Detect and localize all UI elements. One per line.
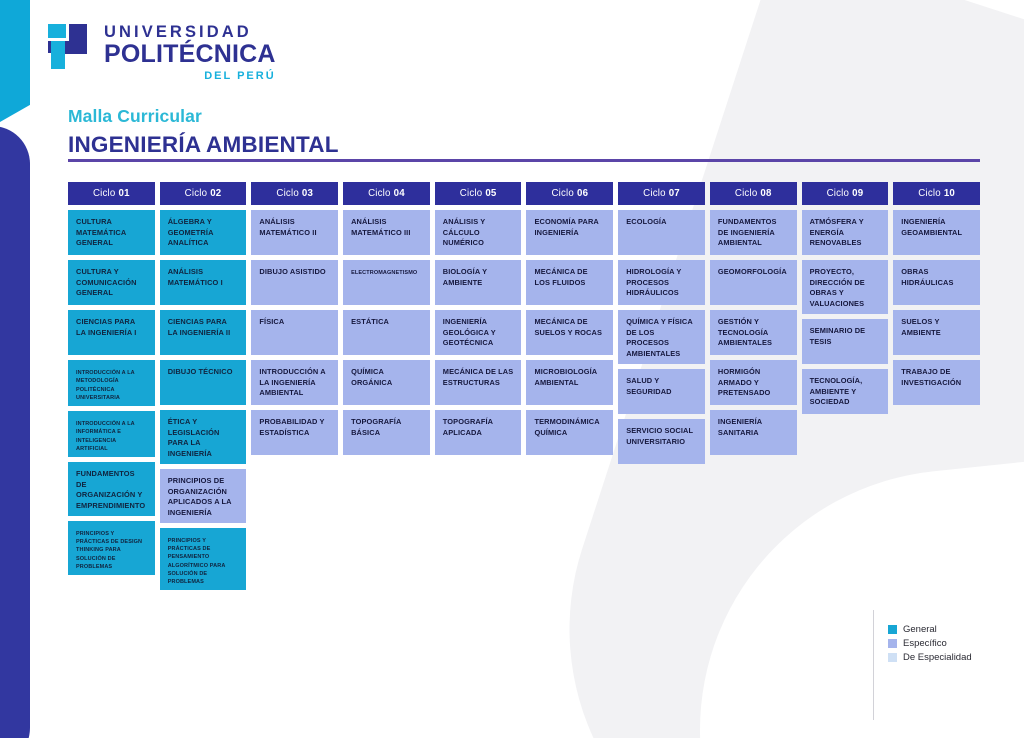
cycle-header-label: Ciclo — [735, 188, 758, 199]
course-card[interactable]: ECOLOGÍA — [618, 210, 705, 255]
legend: GeneralEspecíficoDe Especialidad — [888, 624, 972, 663]
legend-label: De Especialidad — [903, 652, 972, 663]
cycle-header-label: Ciclo — [368, 188, 391, 199]
course-card[interactable]: FÍSICA — [251, 310, 338, 355]
legend-swatch-icon — [888, 653, 897, 662]
logo-mark-icon — [48, 22, 94, 70]
cycle-column-01: Ciclo01CULTURA MATEMÁTICA GENERALCULTURA… — [68, 182, 155, 590]
cycle-column-09: Ciclo09ATMÓSFERA Y ENERGÍA RENOVABLESPRO… — [802, 182, 889, 590]
course-card[interactable]: INGENIERÍA SANITARIA — [710, 410, 797, 455]
course-card[interactable]: DIBUJO ASISTIDO — [251, 260, 338, 305]
course-card[interactable]: CIENCIAS PARA LA INGENIERÍA I — [68, 310, 155, 355]
legend-divider — [873, 610, 874, 720]
legend-label: Específico — [903, 638, 947, 649]
course-card[interactable]: CIENCIAS PARA LA INGENIERÍA II — [160, 310, 247, 355]
legend-label: General — [903, 624, 937, 635]
cycle-header-09[interactable]: Ciclo09 — [802, 182, 889, 205]
course-card[interactable]: INTRODUCCIÓN A LA INGENIERÍA AMBIENTAL — [251, 360, 338, 405]
course-card[interactable]: PROBABILIDAD Y ESTADÍSTICA — [251, 410, 338, 455]
cycle-header-number: 02 — [210, 188, 221, 199]
course-card[interactable]: ECONOMÍA PARA INGENIERÍA — [526, 210, 613, 255]
logo-wordmark: UNIVERSIDAD POLITÉCNICA DEL PERÚ — [104, 22, 276, 82]
cycle-column-07: Ciclo07ECOLOGÍAHIDROLOGÍA Y PROCESOS HID… — [618, 182, 705, 590]
course-card[interactable]: ANÁLISIS Y CÁLCULO NUMÉRICO — [435, 210, 522, 255]
course-card[interactable]: INGENIERÍA GEOLÓGICA Y GEOTÉCNICA — [435, 310, 522, 355]
course-card[interactable]: SALUD Y SEGURIDAD — [618, 369, 705, 414]
course-card[interactable]: ÁLGEBRA Y GEOMETRÍA ANALÍTICA — [160, 210, 247, 255]
course-card[interactable]: MECÁNICA DE SUELOS Y ROCAS — [526, 310, 613, 355]
course-card[interactable]: TOPOGRAFÍA BÁSICA — [343, 410, 430, 455]
course-card[interactable]: QUÍMICA Y FÍSICA DE LOS PROCESOS AMBIENT… — [618, 310, 705, 364]
course-card[interactable]: FUNDAMENTOS DE ORGANIZACIÓN Y EMPRENDIMI… — [68, 462, 155, 516]
cycle-header-10[interactable]: Ciclo10 — [893, 182, 980, 205]
course-card[interactable]: TOPOGRAFÍA APLICADA — [435, 410, 522, 455]
cycle-header-number: 03 — [302, 188, 313, 199]
course-card[interactable]: MICROBIOLOGÍA AMBIENTAL — [526, 360, 613, 405]
cycle-column-03: Ciclo03ANÁLISIS MATEMÁTICO IIDIBUJO ASIS… — [251, 182, 338, 590]
course-card[interactable]: ANÁLISIS MATEMÁTICO I — [160, 260, 247, 305]
course-card[interactable]: MECÁNICA DE LAS ESTRUCTURAS — [435, 360, 522, 405]
course-card[interactable]: ANÁLISIS MATEMÁTICO II — [251, 210, 338, 255]
cycle-header-label: Ciclo — [551, 188, 574, 199]
course-card[interactable]: DIBUJO TÉCNICO — [160, 360, 247, 405]
course-card[interactable]: OBRAS HIDRÁULICAS — [893, 260, 980, 305]
cycle-header-08[interactable]: Ciclo08 — [710, 182, 797, 205]
cycle-column-10: Ciclo10INGENIERÍA GEOAMBIENTALOBRAS HIDR… — [893, 182, 980, 590]
cycle-header-label: Ciclo — [185, 188, 208, 199]
cycle-header-number: 05 — [485, 188, 496, 199]
course-card[interactable]: FUNDAMENTOS DE INGENIERÍA AMBIENTAL — [710, 210, 797, 255]
cycle-header-number: 07 — [669, 188, 680, 199]
cycle-header-07[interactable]: Ciclo07 — [618, 182, 705, 205]
cycle-header-03[interactable]: Ciclo03 — [251, 182, 338, 205]
cycle-header-02[interactable]: Ciclo02 — [160, 182, 247, 205]
cycle-header-05[interactable]: Ciclo05 — [435, 182, 522, 205]
left-edge-blue-accent-inner — [0, 126, 30, 738]
legend-swatch-icon — [888, 639, 897, 648]
course-card[interactable]: ÉTICA Y LEGISLACIÓN PARA LA INGENIERÍA — [160, 410, 247, 464]
cycle-header-04[interactable]: Ciclo04 — [343, 182, 430, 205]
cycle-column-06: Ciclo06ECONOMÍA PARA INGENIERÍAMECÁNICA … — [526, 182, 613, 590]
course-card[interactable]: SUELOS Y AMBIENTE — [893, 310, 980, 355]
course-card[interactable]: ELECTROMAGNETISMO — [343, 260, 430, 305]
cycle-header-label: Ciclo — [643, 188, 666, 199]
legend-item: De Especialidad — [888, 652, 972, 663]
course-card[interactable]: QUÍMICA ORGÁNICA — [343, 360, 430, 405]
cycle-header-number: 04 — [394, 188, 405, 199]
course-card[interactable]: SERVICIO SOCIAL UNIVERSITARIO — [618, 419, 705, 464]
course-card[interactable]: ESTÁTICA — [343, 310, 430, 355]
course-card[interactable]: INTRODUCCIÓN A LA METODOLOGÍA POLITÉCNIC… — [68, 360, 155, 406]
cycle-header-number: 01 — [119, 188, 130, 199]
course-card[interactable]: MECÁNICA DE LOS FLUIDOS — [526, 260, 613, 305]
curriculum-grid: Ciclo01CULTURA MATEMÁTICA GENERALCULTURA… — [68, 182, 980, 590]
cycle-header-label: Ciclo — [93, 188, 116, 199]
course-card[interactable]: PROYECTO, DIRECCIÓN DE OBRAS Y VALUACION… — [802, 260, 889, 314]
left-edge-cyan-accent — [0, 0, 30, 122]
course-card[interactable]: PRINCIPIOS Y PRÁCTICAS DE PENSAMIENTO AL… — [160, 528, 247, 591]
course-card[interactable]: PRINCIPIOS DE ORGANIZACIÓN APLICADOS A L… — [160, 469, 247, 523]
legend-item: Específico — [888, 638, 972, 649]
course-card[interactable]: SEMINARIO DE TESIS — [802, 319, 889, 364]
brand-header: UNIVERSIDAD POLITÉCNICA DEL PERÚ — [48, 22, 276, 82]
course-card[interactable]: CULTURA Y COMUNICACIÓN GENERAL — [68, 260, 155, 305]
cycle-header-label: Ciclo — [827, 188, 850, 199]
curriculum-page: UNIVERSIDAD POLITÉCNICA DEL PERÚ Malla C… — [0, 0, 1024, 738]
cycle-column-02: Ciclo02ÁLGEBRA Y GEOMETRÍA ANALÍTICAANÁL… — [160, 182, 247, 590]
course-card[interactable]: BIOLOGÍA Y AMBIENTE — [435, 260, 522, 305]
cycle-column-04: Ciclo04ANÁLISIS MATEMÁTICO IIIELECTROMAG… — [343, 182, 430, 590]
course-card[interactable]: ATMÓSFERA Y ENERGÍA RENOVABLES — [802, 210, 889, 255]
course-card[interactable]: INGENIERÍA GEOAMBIENTAL — [893, 210, 980, 255]
course-card[interactable]: CULTURA MATEMÁTICA GENERAL — [68, 210, 155, 255]
logo-line-universidad: UNIVERSIDAD — [104, 24, 276, 41]
page-title-block: Malla Curricular INGENIERÍA AMBIENTAL — [68, 106, 339, 158]
page-title: INGENIERÍA AMBIENTAL — [68, 132, 339, 158]
cycle-header-number: 06 — [577, 188, 588, 199]
logo-line-politecnica: POLITÉCNICA — [104, 42, 276, 67]
course-card[interactable]: TECNOLOGÍA, AMBIENTE Y SOCIEDAD — [802, 369, 889, 414]
cycle-header-number: 09 — [852, 188, 863, 199]
course-card[interactable]: HORMIGÓN ARMADO Y PRETENSADO — [710, 360, 797, 405]
cycle-column-05: Ciclo05ANÁLISIS Y CÁLCULO NUMÉRICOBIOLOG… — [435, 182, 522, 590]
course-card[interactable]: INTRODUCCIÓN A LA INFORMÁTICA E INTELIGE… — [68, 411, 155, 457]
course-card[interactable]: HIDROLOGÍA Y PROCESOS HIDRÁULICOS — [618, 260, 705, 305]
cycle-header-number: 08 — [760, 188, 771, 199]
title-divider — [68, 159, 980, 162]
course-card[interactable]: GEOMORFOLOGÍA — [710, 260, 797, 305]
cycle-header-label: Ciclo — [918, 188, 941, 199]
cycle-header-06[interactable]: Ciclo06 — [526, 182, 613, 205]
legend-swatch-icon — [888, 625, 897, 634]
legend-item: General — [888, 624, 972, 635]
course-card[interactable]: ANÁLISIS MATEMÁTICO III — [343, 210, 430, 255]
cycle-header-01[interactable]: Ciclo01 — [68, 182, 155, 205]
course-card[interactable]: TERMODINÁMICA QUÍMICA — [526, 410, 613, 455]
cycle-header-number: 10 — [944, 188, 955, 199]
page-subtitle: Malla Curricular — [68, 106, 339, 127]
logo-line-del-peru: DEL PERÚ — [104, 70, 276, 82]
university-logo: UNIVERSIDAD POLITÉCNICA DEL PERÚ — [48, 22, 276, 82]
cycle-header-label: Ciclo — [276, 188, 299, 199]
cycle-column-08: Ciclo08FUNDAMENTOS DE INGENIERÍA AMBIENT… — [710, 182, 797, 590]
course-card[interactable]: GESTIÓN Y TECNOLOGÍA AMBIENTALES — [710, 310, 797, 355]
cycle-header-label: Ciclo — [460, 188, 483, 199]
course-card[interactable]: TRABAJO DE INVESTIGACIÓN — [893, 360, 980, 405]
course-card[interactable]: PRINCIPIOS Y PRÁCTICAS DE DESIGN THINKIN… — [68, 521, 155, 575]
